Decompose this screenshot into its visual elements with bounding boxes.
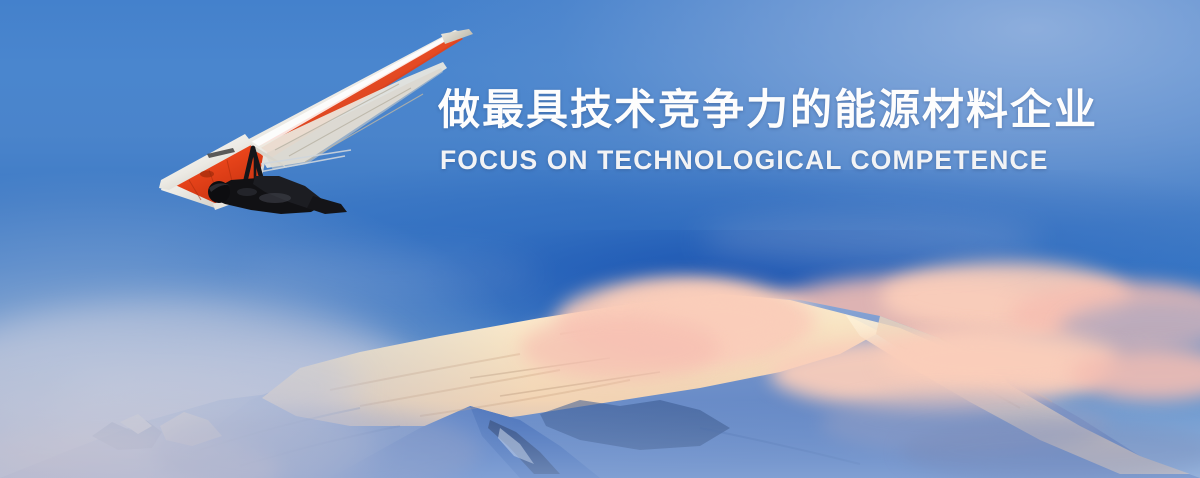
hero-banner: 做最具技术竞争力的能源材料企业 FOCUS ON TECHNOLOGICAL C… (0, 0, 1200, 478)
hang-glider (155, 22, 475, 220)
headline-english: FOCUS ON TECHNOLOGICAL COMPETENCE (440, 144, 1194, 176)
headline-block: 做最具技术竞争力的能源材料企业 FOCUS ON TECHNOLOGICAL C… (438, 84, 1194, 176)
headline-chinese: 做最具技术竞争力的能源材料企业 (438, 84, 1194, 136)
hang-glider-icon (155, 22, 475, 220)
